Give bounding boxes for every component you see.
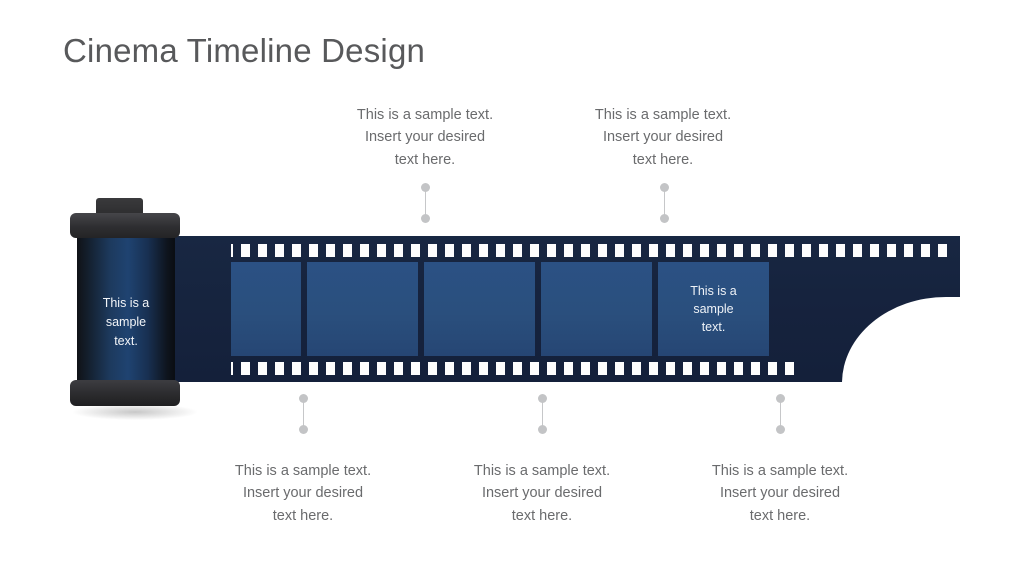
perforation-hole <box>445 362 454 375</box>
film-frame-text: This is a sample text. <box>658 282 769 336</box>
perforation-hole <box>513 362 522 375</box>
film-tucked-segment <box>171 236 231 382</box>
connector-dot-bottom <box>299 425 308 434</box>
perforation-hole <box>292 362 301 375</box>
perforation-rail-bottom <box>156 361 794 375</box>
perforation-hole <box>496 362 505 375</box>
perforation-hole <box>666 244 675 257</box>
perforation-hole <box>343 362 352 375</box>
perforation-hole <box>615 362 624 375</box>
caption-line: Insert your desired <box>325 126 525 148</box>
caption-line: text here. <box>442 505 642 527</box>
perforation-hole <box>564 244 573 257</box>
perforation-hole <box>768 362 777 375</box>
perforation-hole <box>428 244 437 257</box>
perforation-hole <box>462 244 471 257</box>
frame-text-line: text. <box>658 318 769 336</box>
perforation-hole <box>411 244 420 257</box>
perforation-hole <box>853 244 862 257</box>
perforation-hole <box>326 362 335 375</box>
perforation-hole <box>275 362 284 375</box>
perforation-hole <box>513 244 522 257</box>
perforation-hole <box>700 362 709 375</box>
perforation-hole <box>598 244 607 257</box>
caption-line: Insert your desired <box>680 482 880 504</box>
film-frame-3[interactable] <box>424 262 535 356</box>
frame-text-line: sample <box>658 300 769 318</box>
caption-line: Insert your desired <box>203 482 403 504</box>
page-title: Cinema Timeline Design <box>63 32 425 70</box>
canister-cap-top <box>70 213 180 238</box>
frame-text-line: This is a <box>658 282 769 300</box>
perforation-hole <box>785 244 794 257</box>
connector-top-1 <box>421 183 430 223</box>
perforation-hole <box>819 244 828 257</box>
perforation-hole <box>496 244 505 257</box>
perforation-hole <box>938 244 947 257</box>
perforation-hole <box>615 244 624 257</box>
perforation-hole <box>921 244 930 257</box>
caption-bottom-3[interactable]: This is a sample text. Insert your desir… <box>680 460 880 527</box>
canister-text-line: This is a <box>77 294 175 313</box>
perforation-hole <box>649 362 658 375</box>
connector-dot-top <box>421 183 430 192</box>
perforation-hole <box>377 244 386 257</box>
caption-line: Insert your desired <box>563 126 763 148</box>
perforation-hole <box>734 244 743 257</box>
film-frame-2[interactable] <box>307 262 418 356</box>
perforation-hole <box>700 244 709 257</box>
caption-line: This is a sample text. <box>563 104 763 126</box>
canister-text-line: text. <box>77 332 175 351</box>
perforation-hole <box>632 244 641 257</box>
perforation-hole <box>360 362 369 375</box>
perforation-hole <box>309 362 318 375</box>
caption-line: text here. <box>203 505 403 527</box>
film-canister[interactable]: This is a sample text. <box>63 198 189 420</box>
connector-dot-top <box>538 394 547 403</box>
perforation-hole <box>309 244 318 257</box>
caption-line: This is a sample text. <box>442 460 642 482</box>
film-frame-4[interactable] <box>541 262 652 356</box>
perforation-hole <box>394 362 403 375</box>
slide-canvas: Cinema Timeline Design This is a sample … <box>0 0 1024 576</box>
perforation-hole <box>581 244 590 257</box>
perforation-hole <box>683 362 692 375</box>
perforation-hole <box>326 244 335 257</box>
perforation-hole <box>887 244 896 257</box>
perforation-hole <box>649 244 658 257</box>
perforation-hole <box>836 244 845 257</box>
connector-dot-bottom <box>421 214 430 223</box>
perforation-hole <box>734 362 743 375</box>
perforation-hole <box>666 362 675 375</box>
perforation-hole <box>479 244 488 257</box>
caption-line: This is a sample text. <box>203 460 403 482</box>
perforation-hole <box>343 244 352 257</box>
perforation-hole <box>394 244 403 257</box>
connector-bottom-1 <box>299 394 308 434</box>
perforation-hole <box>428 362 437 375</box>
perforation-hole <box>530 362 539 375</box>
caption-line: Insert your desired <box>442 482 642 504</box>
perforation-hole <box>462 362 471 375</box>
perforation-hole <box>275 244 284 257</box>
connector-bottom-3 <box>776 394 785 434</box>
perforation-hole <box>785 362 794 375</box>
canister-cap-bottom <box>70 380 180 406</box>
perforation-hole <box>547 362 556 375</box>
connector-top-2 <box>660 183 669 223</box>
perforation-hole <box>377 362 386 375</box>
perforation-hole <box>241 362 250 375</box>
connector-dot-top <box>776 394 785 403</box>
film-frame-5[interactable]: This is a sample text. <box>658 262 769 356</box>
perforation-hole <box>904 244 913 257</box>
canister-shadow <box>73 404 197 420</box>
perforation-hole <box>258 244 267 257</box>
perforation-hole <box>530 244 539 257</box>
perforation-hole <box>632 362 641 375</box>
perforation-hole <box>802 244 811 257</box>
perforation-hole <box>717 362 726 375</box>
perforation-hole <box>751 362 760 375</box>
caption-line: This is a sample text. <box>680 460 880 482</box>
perforation-hole <box>479 362 488 375</box>
perforation-hole <box>768 244 777 257</box>
connector-dot-top <box>660 183 669 192</box>
perforation-hole <box>751 244 760 257</box>
perforation-hole <box>598 362 607 375</box>
perforation-hole <box>870 244 879 257</box>
perforation-hole <box>581 362 590 375</box>
perforation-hole <box>241 244 250 257</box>
connector-bottom-2 <box>538 394 547 434</box>
film-strip[interactable]: This is a sample text. <box>152 236 960 382</box>
connector-dot-top <box>299 394 308 403</box>
caption-line: text here. <box>680 505 880 527</box>
canister-text-line: sample <box>77 313 175 332</box>
perforation-hole <box>717 244 726 257</box>
perforation-hole <box>445 244 454 257</box>
canister-text: This is a sample text. <box>77 294 175 350</box>
caption-line: This is a sample text. <box>325 104 525 126</box>
connector-dot-bottom <box>538 425 547 434</box>
perforation-rail-top <box>156 243 947 257</box>
caption-bottom-1[interactable]: This is a sample text. Insert your desir… <box>203 460 403 527</box>
caption-line: text here. <box>325 149 525 171</box>
perforation-hole <box>258 362 267 375</box>
perforation-hole <box>547 244 556 257</box>
caption-line: text here. <box>563 149 763 171</box>
film-frames: This is a sample text. <box>156 262 769 356</box>
caption-top-2[interactable]: This is a sample text. Insert your desir… <box>563 104 763 171</box>
perforation-hole <box>360 244 369 257</box>
perforation-hole <box>683 244 692 257</box>
perforation-hole <box>411 362 420 375</box>
perforation-hole <box>292 244 301 257</box>
connector-dot-bottom <box>776 425 785 434</box>
caption-top-1[interactable]: This is a sample text. Insert your desir… <box>325 104 525 171</box>
caption-bottom-2[interactable]: This is a sample text. Insert your desir… <box>442 460 642 527</box>
perforation-hole <box>564 362 573 375</box>
connector-dot-bottom <box>660 214 669 223</box>
